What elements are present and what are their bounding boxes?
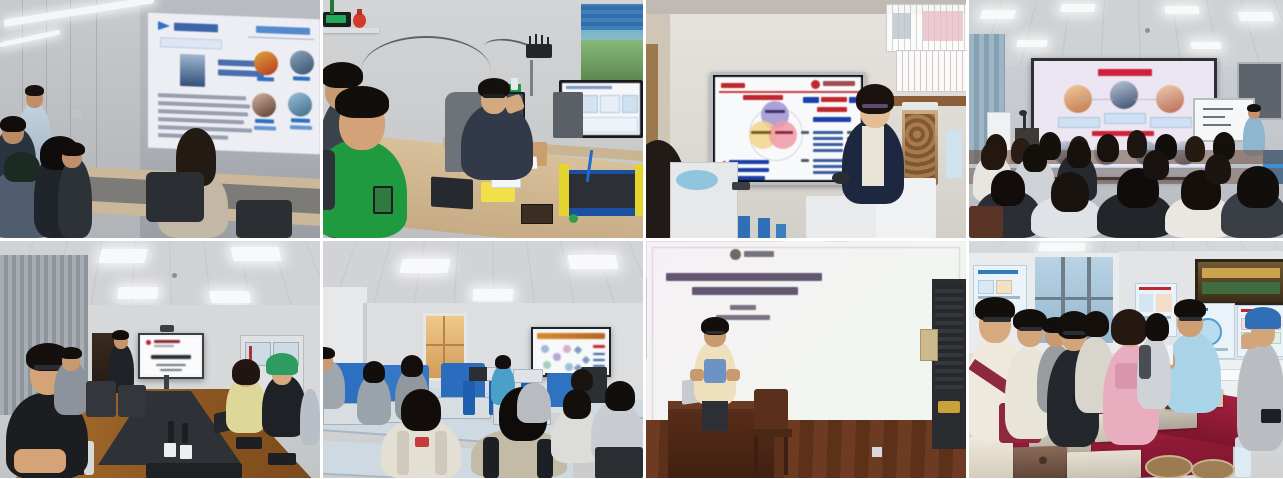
ceiling-light [1238,12,1275,21]
member-caption [1150,117,1192,128]
venn-title [743,95,783,100]
green-cap [266,353,298,375]
backpack-strap [1139,345,1151,379]
hand [690,369,704,381]
researcher-body [461,104,533,180]
slide-title [1098,69,1152,76]
bottle [330,0,334,14]
eyeglasses [862,104,888,108]
name-card [164,443,176,457]
lab-workstation-scene [323,0,643,238]
gallery-photo-1[interactable] [0,0,320,238]
chair-back [754,389,788,433]
gallery-photo-2[interactable] [323,0,643,238]
slide-header [154,340,180,343]
chair [969,206,1003,238]
microphone [1019,110,1027,116]
audience-head [1205,154,1231,184]
wall-fixture [71,110,82,118]
shirt-graphic [1115,363,1139,389]
smartphone [268,453,296,465]
chair [146,172,204,222]
university-logo [146,340,151,345]
slide-seminar-title [142,337,200,375]
gallery-photo-7[interactable] [646,241,966,478]
chair [236,200,292,238]
meeting-room-scene [0,241,320,478]
eyeglasses [1063,331,1086,335]
digital-clock [323,12,351,27]
smoke-detector [172,273,177,278]
audience-head [1127,130,1147,158]
student-head [571,369,593,391]
smartphone [236,437,262,449]
wall-outlet [872,447,882,457]
ceiling-light [1016,40,1047,47]
blue-cap [1245,307,1281,329]
member-photo [288,92,312,117]
slide-title [174,23,218,33]
exhibition-room-scene [969,241,1283,478]
slide-title [151,355,191,359]
audience-head [1185,136,1205,162]
slide-research-group [148,13,320,155]
member-label [293,76,310,81]
lecture-hall-scene [969,0,1283,238]
sample-tray [521,204,553,224]
slide-headline [813,117,851,122]
hand [726,369,740,381]
green-marker [569,214,578,223]
shirt-graphic [704,359,726,383]
slide-subtitle [256,26,310,35]
gallery-photo-5[interactable] [0,241,320,478]
water-bottle [776,224,786,238]
ceiling-light [473,289,514,301]
wall-box [920,329,938,361]
backpack-strap [435,431,447,475]
eyeglasses [706,331,725,334]
gallery-photo-6[interactable] [323,241,643,478]
mouse [832,172,850,184]
ceiling-light [1190,42,1221,49]
ceiling-light [568,255,618,269]
backpack-strap [483,437,499,478]
slide-header [537,333,605,339]
photo-grid [0,0,1283,479]
attendee-body [300,389,320,445]
hand [14,449,66,473]
member-caption [1104,113,1146,124]
audience-head [1143,150,1169,180]
red-ornament [353,13,366,28]
microphone [168,421,174,443]
eyeglasses [483,94,505,98]
water-bottle [758,218,770,238]
projection-screen [148,13,320,155]
ceiling-light [209,291,251,303]
gallery-photo-4[interactable] [969,0,1283,238]
audience-member [58,158,92,238]
leader-portrait [180,54,205,87]
microphone [182,423,188,443]
instrument-case [563,170,641,216]
tablet [431,177,473,210]
smartphone [373,186,393,214]
thesis-presentation-scene [646,241,966,478]
visitor-body [1237,341,1283,451]
member-photo [254,51,278,76]
member-photo [290,50,314,75]
audience-head [1097,134,1119,162]
lab-stool [595,447,643,478]
bottle [946,130,962,178]
monitor [469,367,487,381]
guide-body [1165,333,1221,413]
material-sample [969,437,1013,478]
air-conditioner [932,279,966,449]
member-label [291,118,310,123]
classroom-seminar-scene [0,0,320,238]
presenter-scarf [862,126,884,186]
ceiling-light [231,247,282,261]
camera [160,325,174,332]
petri-dish [1145,455,1193,478]
gallery-photo-3[interactable] [646,0,966,238]
eyeglasses [1019,327,1042,331]
member-photo [252,93,276,118]
play-triangle-icon [158,21,170,30]
ceiling-light [400,259,451,273]
smoke-detector [1145,28,1150,33]
ceiling-light [98,249,147,263]
chair [118,385,146,417]
eyeglasses [1179,317,1202,321]
ceiling-light [1038,243,1085,251]
presenter-trousers [702,401,728,431]
wall-shelf [323,28,379,33]
presenter-with-venn-scene [646,0,966,238]
gallery-photo-8[interactable] [969,241,1283,478]
basin [676,170,718,190]
slide-header [721,83,745,88]
member-label [257,77,274,82]
member-label [255,119,274,124]
slide-tag [160,37,222,49]
hand [1241,333,1257,349]
chair [86,381,116,417]
window-blind [581,4,643,30]
teaching-lab-scene [323,241,643,478]
wire-rack [886,4,966,52]
slide-headline [817,107,847,112]
material-sample [1067,450,1141,478]
specimen-jar [902,108,938,186]
eyeglasses [983,317,1011,322]
ceiling-light [117,287,159,299]
slide-headline [803,97,819,103]
petri-dish [1191,459,1235,478]
projection-frame [646,241,849,359]
test-rig [463,381,475,415]
water-bottle [738,216,750,238]
ceiling-light [1060,4,1095,12]
honor-banner [1195,259,1283,305]
backpack-strap [323,150,335,210]
meeting-display [138,333,204,379]
instrument-tower [553,92,583,138]
member-caption [1058,117,1100,128]
university-logo [811,80,820,89]
backpack-strap [397,431,409,475]
member-photo [1110,81,1138,109]
ceiling-light [1164,6,1199,14]
chair [146,463,242,478]
venn-circle-diagnostics [769,121,797,149]
student-body [517,383,551,423]
hanging-cable [361,36,491,78]
smartphone [1261,409,1281,423]
ceiling-light [980,10,1017,19]
name-card [180,445,192,459]
router [526,44,552,58]
